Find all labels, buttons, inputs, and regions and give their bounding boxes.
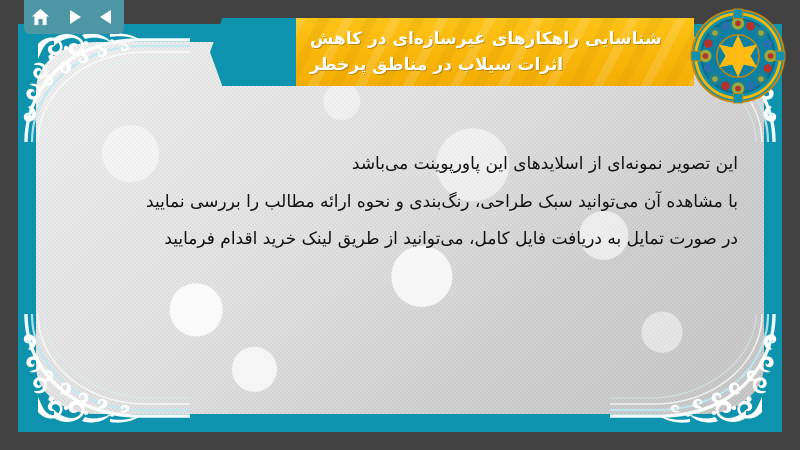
banner-arrow-tail (210, 18, 298, 86)
slide-viewer: این تصویر نمونه‌ای از اسلایدهای این پاور… (0, 0, 800, 450)
triangle-left-icon (97, 7, 117, 27)
body-line-1: این تصویر نمونه‌ای از اسلایدهای این پاور… (48, 152, 738, 178)
body-line-2: با مشاهده آن می‌توانید سبک طراحی، رنگ‌بن… (48, 190, 738, 216)
persian-medallion-icon (690, 8, 786, 104)
body-line-3: در صورت تمایل به دریافت فایل کامل، می‌تو… (48, 227, 738, 253)
slide-body-text: این تصویر نمونه‌ای از اسلایدهای این پاور… (48, 152, 738, 265)
banner-gold-plate: شناسایی راهکارهای غیرسازه‌ای در کاهش اثر… (296, 18, 694, 86)
navigation-bar (24, 0, 124, 34)
next-slide-button[interactable] (62, 5, 86, 29)
slide-title-line-2: اثرات سیلاب در مناطق پرخطر (310, 52, 563, 78)
triangle-right-icon (64, 7, 84, 27)
slide-title-line-1: شناسایی راهکارهای غیرسازه‌ای در کاهش (310, 26, 662, 52)
home-button[interactable] (29, 5, 53, 29)
title-banner: شناسایی راهکارهای غیرسازه‌ای در کاهش اثر… (210, 0, 800, 96)
home-icon (30, 7, 51, 28)
previous-slide-button[interactable] (95, 5, 119, 29)
